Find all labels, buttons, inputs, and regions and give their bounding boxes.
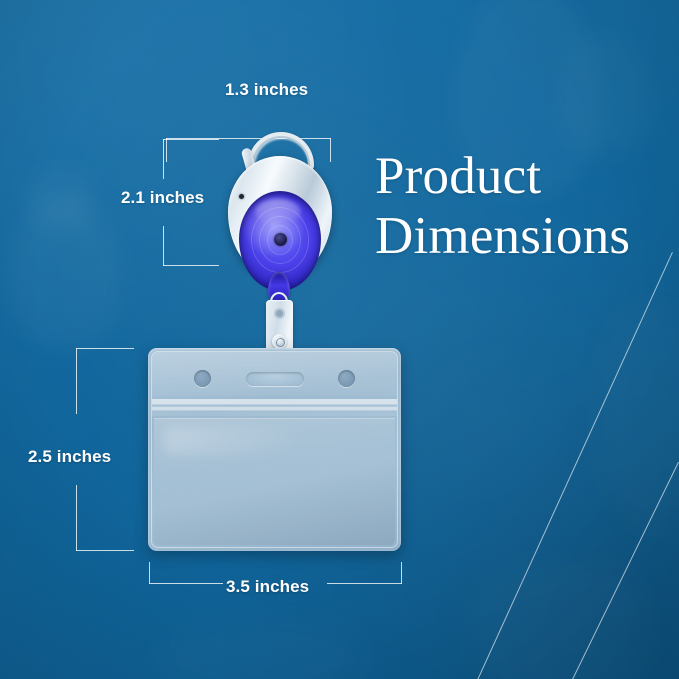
page-title-line-1: Product [375, 146, 675, 206]
card-grommet [338, 370, 355, 387]
dimension-label-reel-width: 1.3 inches [225, 80, 308, 100]
card-grommet [194, 370, 211, 387]
page-title-line-2: Dimensions [375, 206, 675, 266]
reel-chrome-shell [228, 156, 332, 278]
dimension-label-reel-height: 2.1 inches [121, 188, 204, 208]
strap-hole [274, 308, 285, 319]
badge-holder-card [148, 348, 401, 551]
background-ghost-figure [150, 612, 370, 679]
dimension-label-card-height: 2.5 inches [28, 447, 111, 467]
background-ghost-figure [26, 168, 96, 232]
background-ghost-figure [470, 560, 650, 679]
card-zip-seal [152, 399, 397, 416]
infographic-canvas: Product Dimensions 1.3 inches 2.1 inches… [0, 0, 679, 679]
background-ghost-figure [556, 30, 652, 158]
reel-rivet [239, 194, 244, 199]
strap-snap-button [272, 334, 287, 349]
page-title: Product Dimensions [375, 146, 675, 266]
dimension-label-card-width: 3.5 inches [226, 577, 309, 597]
reel-center-hub [274, 233, 287, 246]
card-pocket [154, 418, 395, 545]
background-ghost-figure [596, 300, 679, 530]
card-lanyard-slot [246, 372, 304, 386]
badge-reel-product [228, 132, 332, 372]
card-pocket-sheen [164, 427, 299, 455]
